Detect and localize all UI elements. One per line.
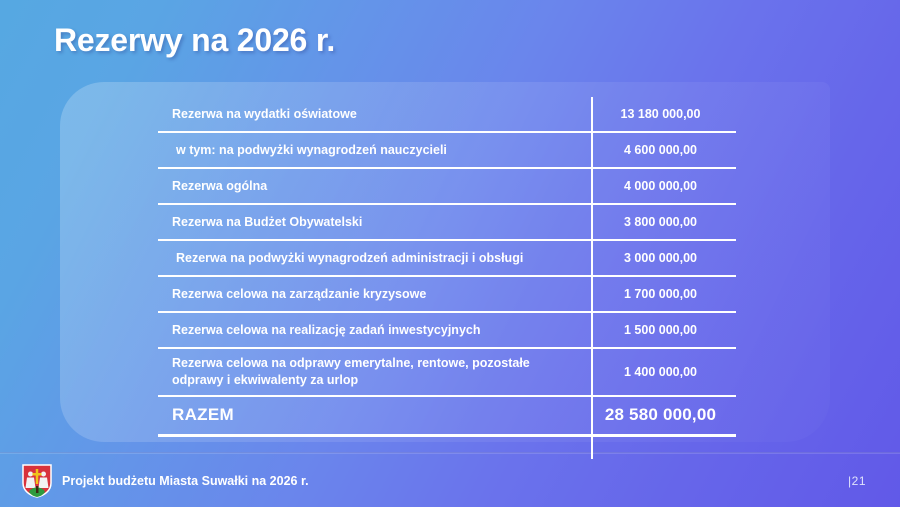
footer: Projekt budżetu Miasta Suwałki na 2026 r… [0,455,900,507]
page-number: |21 [848,474,866,488]
suwalki-coat-of-arms-icon [22,464,52,498]
table-row: Rezerwa celowa na odprawy emerytalne, re… [158,349,736,397]
total-label: RAZEM [158,398,591,432]
table-row: Rezerwa ogólna 4 000 000,00 [158,169,736,205]
table-row: Rezerwa na Budżet Obywatelski 3 800 000,… [158,205,736,241]
slide: Rezerwy na 2026 r. Rezerwa na wydatki oś… [0,0,900,507]
row-value: 1 700 000,00 [591,281,736,307]
row-label: w tym: na podwyżki wynagrodzeń nauczycie… [158,136,591,165]
footer-text: Projekt budżetu Miasta Suwałki na 2026 r… [62,474,309,488]
table-total-row: RAZEM 28 580 000,00 [158,397,736,437]
row-label: Rezerwa na wydatki oświatowe [158,100,591,129]
column-divider [591,97,593,459]
table-row: Rezerwa celowa na zarządzanie kryzysowe … [158,277,736,313]
row-value: 1 400 000,00 [591,359,736,385]
row-value: 3 800 000,00 [591,209,736,235]
row-value: 13 180 000,00 [591,101,736,127]
row-value: 1 500 000,00 [591,317,736,343]
footer-divider [0,452,900,454]
row-label: Rezerwa ogólna [158,172,591,201]
row-label: Rezerwa na Budżet Obywatelski [158,208,591,237]
table-row: Rezerwa na wydatki oświatowe 13 180 000,… [158,97,736,133]
row-value: 4 600 000,00 [591,137,736,163]
total-value: 28 580 000,00 [591,399,736,431]
table-row: Rezerwa celowa na realizację zadań inwes… [158,313,736,349]
page-title: Rezerwy na 2026 r. [54,22,335,59]
table-row: Rezerwa na podwyżki wynagrodzeń administ… [158,241,736,277]
row-label: Rezerwa na podwyżki wynagrodzeń administ… [158,244,591,273]
row-value: 3 000 000,00 [591,245,736,271]
reserves-table: Rezerwa na wydatki oświatowe 13 180 000,… [158,97,736,459]
row-label: Rezerwa celowa na zarządzanie kryzysowe [158,280,591,309]
row-label: Rezerwa celowa na odprawy emerytalne, re… [158,349,591,395]
table-row: w tym: na podwyżki wynagrodzeń nauczycie… [158,133,736,169]
row-value: 4 000 000,00 [591,173,736,199]
row-label: Rezerwa celowa na realizację zadań inwes… [158,316,591,345]
